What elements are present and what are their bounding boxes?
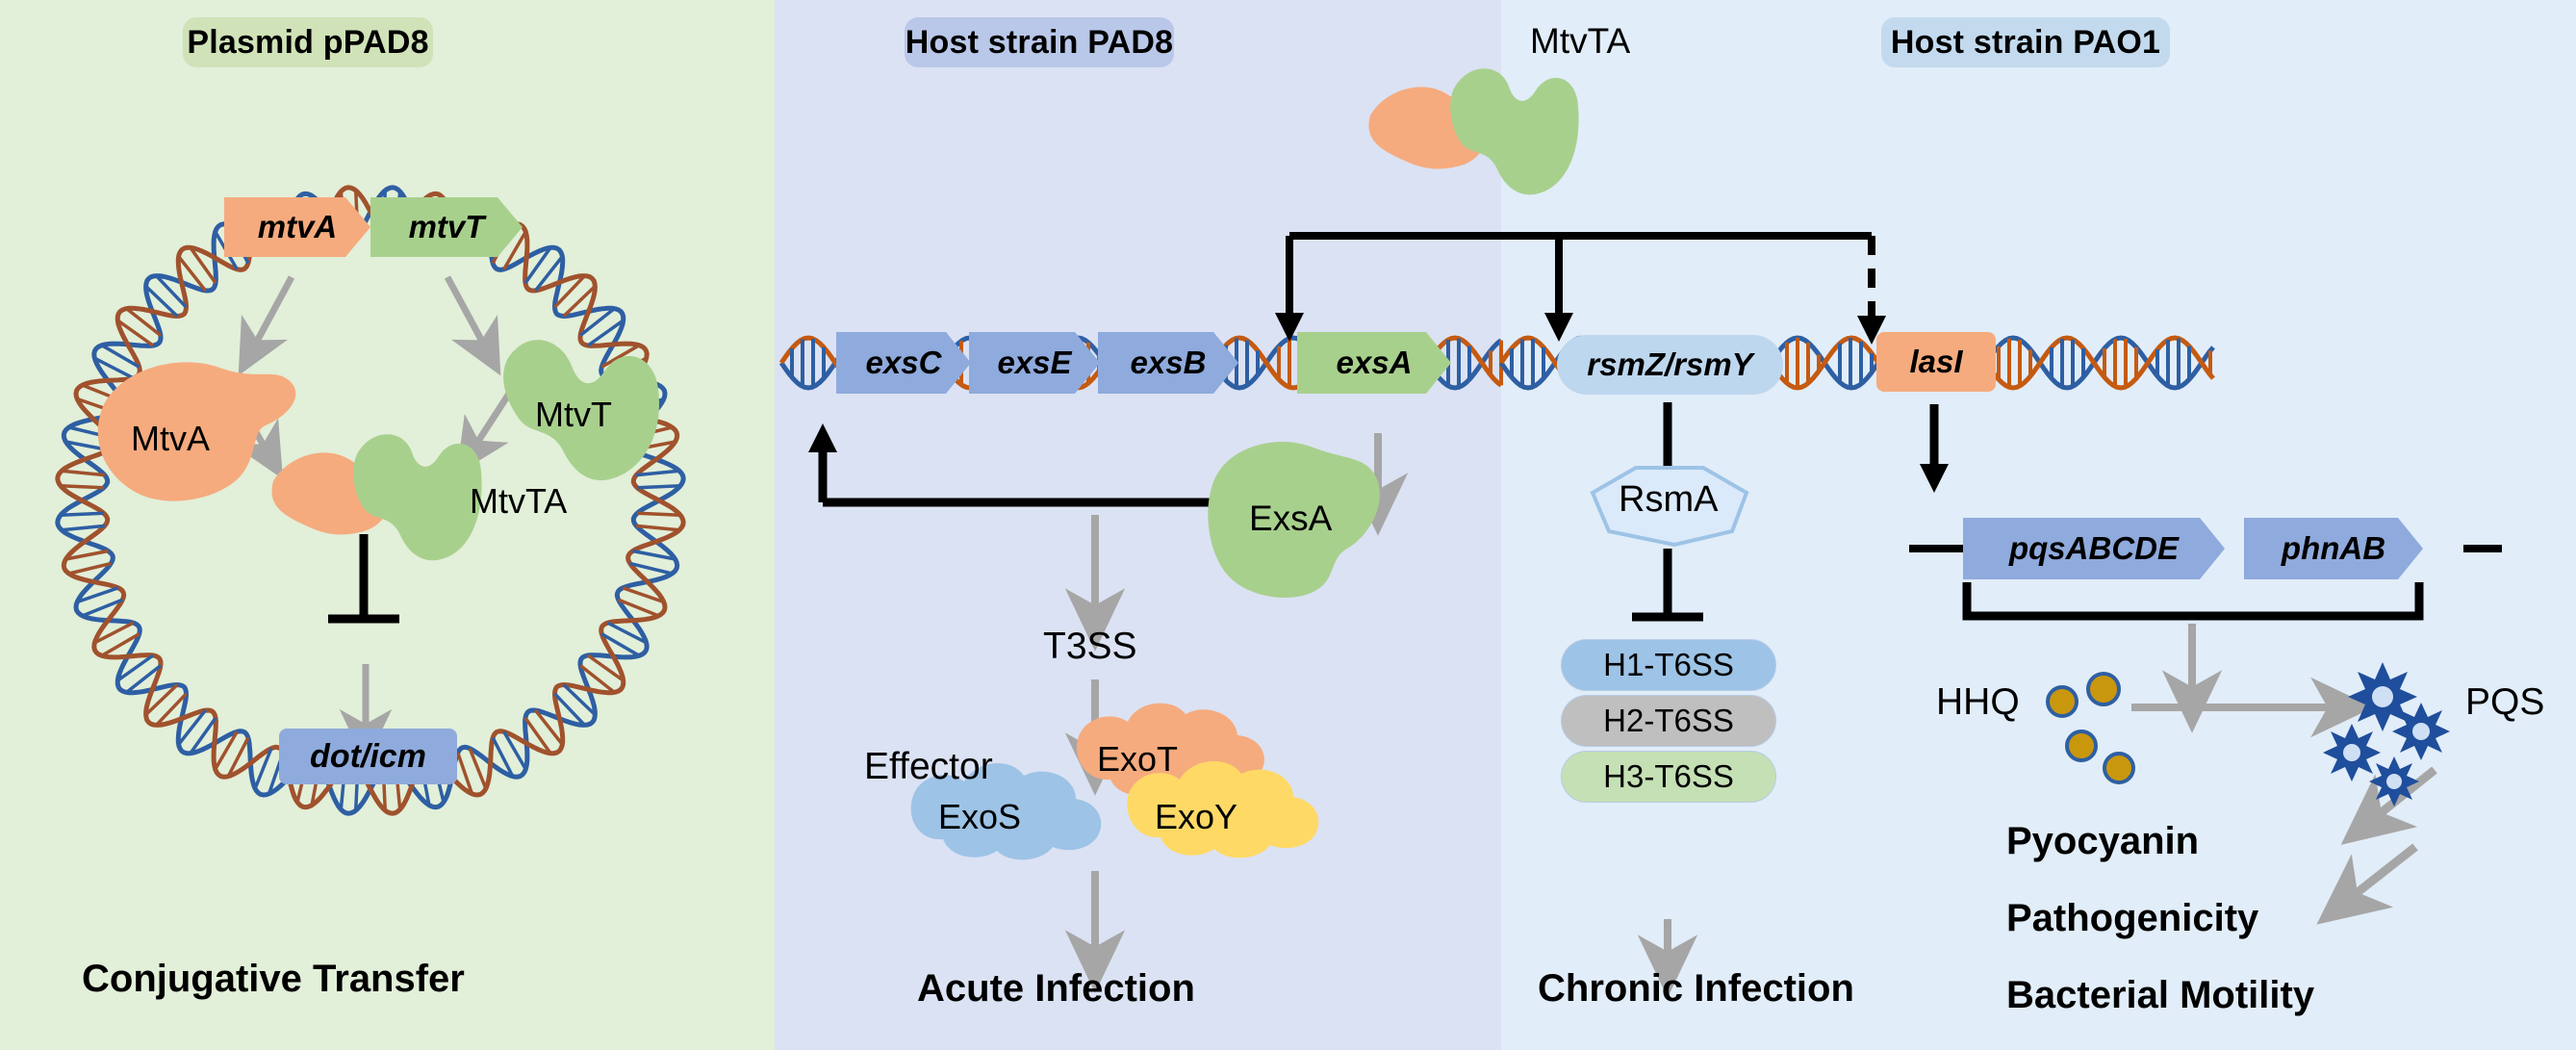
outcome-chronic-infection: Chronic Infection	[1538, 967, 1854, 1011]
t6ss-h1: H1-T6SS	[1561, 639, 1776, 691]
gene-mtvA: mtvA	[224, 197, 370, 257]
gene-label: mtvA	[258, 209, 338, 245]
gene-label: exsE	[997, 345, 1071, 381]
t6ss-h2: H2-T6SS	[1561, 695, 1776, 747]
gene-label: lasI	[1909, 344, 1962, 380]
label-rsma: RsmA	[1619, 479, 1718, 521]
label-pqs: PQS	[2465, 681, 2544, 724]
panel-title-plasmid: Plasmid pPAD8	[183, 17, 433, 67]
label-hhq: HHQ	[1936, 681, 2020, 724]
protein-label-ExsA: ExsA	[1249, 499, 1332, 539]
panel-host-pad8	[775, 0, 1501, 1050]
gene-phnAB: phnAB	[2244, 518, 2423, 579]
protein-label-MtvT: MtvT	[535, 395, 612, 435]
outcome-pathogenicity: Pathogenicity	[2006, 897, 2258, 940]
effector-label-ExoY: ExoY	[1155, 797, 1237, 837]
gene-label: dot/icm	[310, 738, 426, 776]
gene-exsE: exsE	[969, 332, 1100, 394]
panel-plasmid	[0, 0, 775, 1050]
outcome-bacterial-motility: Bacterial Motility	[2006, 974, 2314, 1017]
panel-title-host-pao1: Host strain PAO1	[1881, 17, 2170, 67]
protein-label-MtvTA: MtvTA	[470, 481, 567, 522]
label-t3ss: T3SS	[1043, 626, 1137, 668]
t6ss-label: H1-T6SS	[1603, 647, 1734, 683]
gene-exsA: exsA	[1297, 332, 1451, 394]
gene-label: phnAB	[2282, 530, 2385, 567]
figure-canvas: Plasmid pPAD8 Host strain PAD8 Host stra…	[0, 0, 2576, 1050]
t6ss-label: H3-T6SS	[1603, 758, 1734, 795]
t6ss-h3: H3-T6SS	[1561, 751, 1776, 803]
gene-label: exsA	[1337, 345, 1413, 381]
gene-exsB: exsB	[1098, 332, 1238, 394]
gene-pqsABCDE: pqsABCDE	[1963, 518, 2225, 579]
outcome-conjugative-transfer: Conjugative Transfer	[82, 958, 465, 1001]
effector-label-ExoT: ExoT	[1097, 739, 1178, 780]
label-effector: Effector	[864, 746, 993, 788]
gene-label: pqsABCDE	[2009, 530, 2179, 567]
t6ss-label: H2-T6SS	[1603, 703, 1734, 739]
protein-label-MtvA: MtvA	[131, 419, 210, 459]
gene-mtvT: mtvT	[370, 197, 523, 257]
gene-label: mtvT	[409, 209, 485, 245]
gene-exsC: exsC	[836, 332, 971, 394]
protein-label-MtvTA-pao1: MtvTA	[1530, 21, 1630, 62]
gene-label: rsmZ/rsmY	[1587, 346, 1752, 383]
outcome-pyocyanin: Pyocyanin	[2006, 820, 2199, 863]
gene-dot-icm: dot/icm	[279, 729, 457, 784]
gene-label: exsC	[866, 345, 942, 381]
outcome-acute-infection: Acute Infection	[917, 967, 1195, 1011]
effector-label-ExoS: ExoS	[938, 797, 1021, 837]
gene-lasI: lasI	[1876, 332, 1996, 392]
panel-title-host-pad8: Host strain PAD8	[905, 17, 1174, 67]
gene-label: exsB	[1131, 345, 1207, 381]
gene-rsmZ-rsmY: rsmZ/rsmY	[1557, 335, 1783, 395]
